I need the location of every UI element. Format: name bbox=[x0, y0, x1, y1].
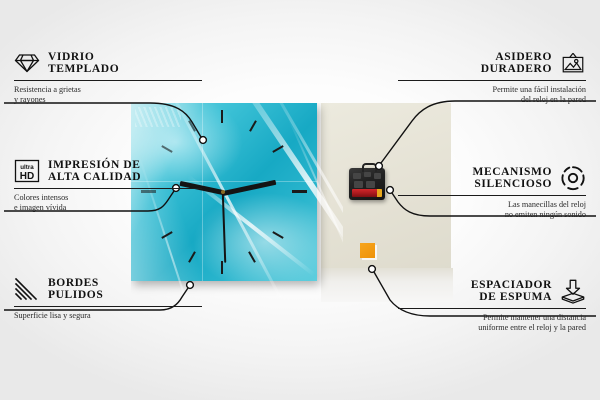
svg-text:ultra: ultra bbox=[20, 164, 34, 171]
feature-bordes-pulidos[interactable]: BORDES PULIDOS Superficie lisa y segura bbox=[14, 276, 202, 321]
feature-mecanismo-silencioso[interactable]: MECANISMO SILENCIOSO Las manecillas del … bbox=[398, 165, 586, 220]
gear-icon bbox=[560, 165, 586, 191]
hour-marker bbox=[272, 231, 283, 239]
divider bbox=[14, 306, 202, 307]
feature-asidero-duradero[interactable]: ASIDERO DURADERO Permite una fácil insta… bbox=[398, 50, 586, 105]
feature-desc-line2: e imagen vívida bbox=[14, 203, 66, 212]
hanger-loop bbox=[362, 163, 377, 172]
svg-text:HD: HD bbox=[20, 171, 34, 182]
divider bbox=[398, 80, 586, 81]
clock-mechanism bbox=[349, 168, 385, 200]
mechanism-detail bbox=[366, 181, 375, 188]
infographic-canvas: VIDRIO TEMPLADO Resistencia a grietas y … bbox=[0, 0, 600, 400]
polished-edge-icon bbox=[14, 276, 40, 302]
aa-battery bbox=[352, 189, 382, 197]
clock-center-pin bbox=[221, 190, 225, 194]
feature-title-line1: VIDRIO bbox=[48, 51, 94, 63]
feature-title-line1: IMPRESIÓN DE bbox=[48, 159, 141, 171]
feature-desc-line1: Permite una fácil instalación bbox=[493, 85, 586, 94]
hour-marker bbox=[272, 145, 283, 153]
feature-espaciador-de-espuma[interactable]: ESPACIADOR DE ESPUMA Permite mantener un… bbox=[398, 278, 586, 333]
hour-marker bbox=[249, 120, 257, 131]
feature-title-line2: PULIDOS bbox=[48, 289, 103, 301]
feature-impresion-alta-calidad[interactable]: ultra HD IMPRESIÓN DE ALTA CALIDAD Color… bbox=[14, 158, 202, 213]
feature-title-line2: SILENCIOSO bbox=[474, 178, 552, 190]
feature-title-line1: ESPACIADOR bbox=[471, 279, 552, 291]
hour-marker bbox=[221, 110, 223, 123]
foam-spacer-icon bbox=[560, 278, 586, 304]
feature-title-line1: BORDES bbox=[48, 277, 99, 289]
mechanism-detail bbox=[374, 173, 381, 179]
feature-title-line1: MECANISMO bbox=[472, 166, 552, 178]
feature-desc-line2: uniforme entre el reloj y la pared bbox=[478, 323, 586, 332]
ultra-hd-icon: ultra HD bbox=[14, 158, 40, 184]
divider bbox=[14, 188, 202, 189]
picture-hanger-icon bbox=[560, 50, 586, 76]
feather-streak bbox=[287, 116, 343, 296]
foam-spacer bbox=[360, 243, 375, 258]
mechanism-detail bbox=[354, 181, 363, 188]
mechanism-detail bbox=[353, 173, 361, 179]
divider bbox=[398, 195, 586, 196]
hour-marker bbox=[188, 251, 196, 262]
hour-marker bbox=[161, 145, 172, 153]
diamond-icon bbox=[14, 50, 40, 76]
feature-desc-line1: Resistencia a grietas bbox=[14, 85, 81, 94]
feature-title-line2: DURADERO bbox=[481, 63, 552, 75]
feature-desc-line1: Permite mantener una distancia bbox=[483, 313, 586, 322]
feature-title-line2: TEMPLADO bbox=[48, 63, 119, 75]
hour-marker bbox=[221, 261, 223, 274]
battery-terminal bbox=[377, 189, 382, 197]
image-watermark bbox=[135, 107, 181, 127]
feature-title-line1: ASIDERO bbox=[495, 51, 552, 63]
feature-desc-line2: del reloj en la pared bbox=[521, 95, 586, 104]
hour-marker bbox=[292, 190, 307, 193]
feature-title-line2: DE ESPUMA bbox=[479, 291, 552, 303]
feature-vidrio-templado[interactable]: VIDRIO TEMPLADO Resistencia a grietas y … bbox=[14, 50, 202, 105]
feature-desc-line1: Colores intensos bbox=[14, 193, 68, 202]
feature-title-line2: ALTA CALIDAD bbox=[48, 171, 141, 183]
divider bbox=[398, 308, 586, 309]
mechanism-detail bbox=[364, 172, 371, 177]
feature-desc-line2: y rayones bbox=[14, 95, 46, 104]
divider bbox=[14, 80, 202, 81]
feature-desc-line1: Las manecillas del reloj bbox=[508, 200, 586, 209]
feature-desc-line1: Superficie lisa y segura bbox=[14, 311, 91, 320]
feature-desc-line2: no emiten ningún sonido bbox=[505, 210, 586, 219]
